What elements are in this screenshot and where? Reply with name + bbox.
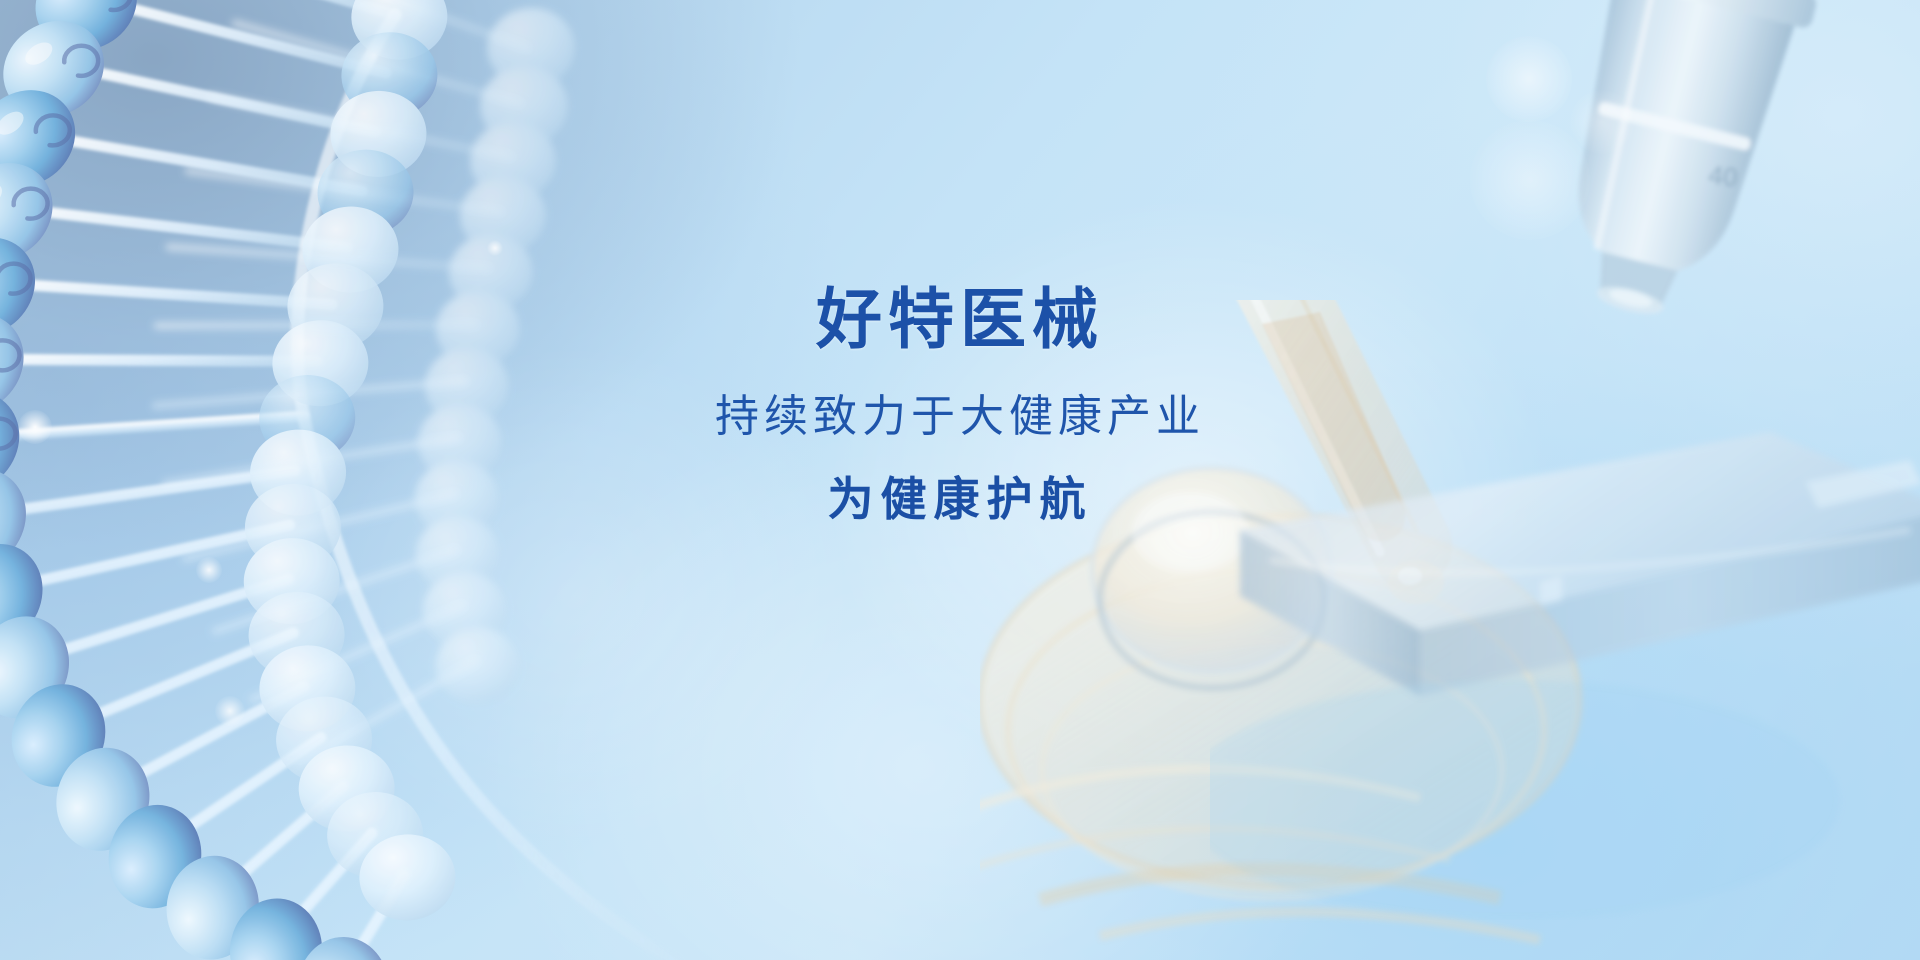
svg-text:40: 40 xyxy=(1707,160,1739,193)
company-title: 好特医械 xyxy=(816,285,1104,354)
company-slogan: 为健康护航 xyxy=(828,473,1093,526)
hero-banner: 40 xyxy=(0,0,1920,960)
hero-text-block: 好特医械 持续致力于大健康产业 为健康护航 xyxy=(0,285,1920,526)
company-subtitle: 持续致力于大健康产业 xyxy=(715,392,1205,443)
